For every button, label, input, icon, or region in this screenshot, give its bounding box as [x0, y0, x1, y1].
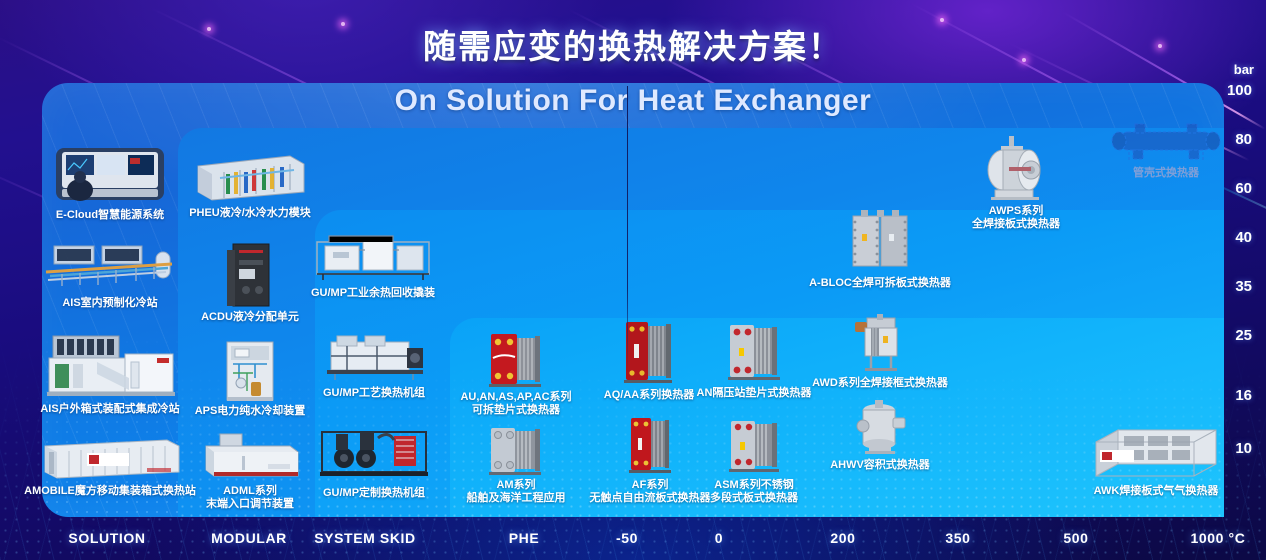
axis-label-200: 200: [830, 530, 855, 546]
pressure-tick-35: 35: [1235, 278, 1252, 295]
ahwv-icon: [851, 398, 909, 456]
product-e-cloud[interactable]: E-Cloud智慧能源系统: [36, 146, 184, 222]
product-caption: AU,AN,AS,AP,AC系列 可拆垫片式换热器: [452, 391, 580, 417]
axis-label-0: 0: [715, 530, 723, 546]
pressure-axis: bar 100 80 60 40 35 25 16 10: [1214, 0, 1266, 560]
center-divider: [627, 86, 628, 376]
container-icon: [35, 434, 185, 482]
phe-steel-icon: [485, 424, 547, 476]
product-caption: PHEU液冷/水冷水力模块: [184, 207, 316, 220]
phe-red-tall-icon: [620, 320, 678, 386]
phe-red-tall-icon: [625, 416, 675, 476]
product-caption: AWK焊接板式气气换热器: [1076, 485, 1236, 498]
pressure-tick-25: 25: [1235, 327, 1252, 344]
product-caption: AIS户外箱式装配式集成冷站: [26, 403, 194, 416]
axis-label-solution: SOLUTION: [68, 530, 145, 546]
axis-label-modular: MODULAR: [211, 530, 287, 546]
regulator-box-icon: [198, 432, 302, 482]
pressure-tick-10: 10: [1235, 440, 1252, 457]
phe-red-icon: [485, 330, 547, 388]
product-awk[interactable]: AWK焊接板式气气换热器: [1076, 424, 1236, 498]
product-caption: A-BLOC全焊可拆板式换热器: [806, 277, 954, 290]
process-unit-icon: [319, 330, 429, 384]
page-subtitle: On Solution For Heat Exchanger: [0, 84, 1266, 118]
product-caption: AWPS系列 全焊接板式换热器: [950, 205, 1082, 231]
axis-label-phe: PHE: [509, 530, 540, 546]
product-am-series[interactable]: AM系列 船舶及海洋工程应用: [452, 424, 580, 505]
product-caption: GU/MP定制换热机组: [308, 487, 440, 500]
pressure-tick-16: 16: [1235, 387, 1252, 404]
product-caption: GU/MP工艺换热机组: [310, 387, 438, 400]
product-gump-waste-heat[interactable]: GU/MP工业余热回收撬装: [303, 232, 443, 300]
product-caption: AM系列 船舶及海洋工程应用: [452, 479, 580, 505]
product-ais-outdoor[interactable]: AIS户外箱式装配式集成冷站: [26, 328, 194, 416]
product-acdu[interactable]: ACDU液冷分配单元: [200, 242, 300, 324]
product-caption: ACDU液冷分配单元: [200, 311, 300, 324]
cabinet-icon: [223, 242, 277, 308]
pressure-tick-80: 80: [1235, 131, 1252, 148]
product-caption: AHWV容积式换热器: [814, 459, 946, 472]
product-caption: E-Cloud智慧能源系统: [36, 209, 184, 222]
product-adml[interactable]: ADML系列 末端入口调节装置: [192, 432, 308, 511]
phe-steel-icon: [725, 418, 783, 476]
product-caption: AN隔压站垫片式换热器: [684, 387, 824, 400]
axis-label-minus-50: -50: [616, 530, 638, 546]
product-a-bloc[interactable]: A-BLOC全焊可拆板式换热器: [806, 208, 954, 290]
product-awps[interactable]: AWPS系列 全焊接板式换热器: [950, 134, 1082, 231]
awd-icon: [849, 312, 911, 374]
indoor-plant-icon: [40, 238, 180, 294]
product-pheu[interactable]: PHEU液冷/水冷水力模块: [184, 148, 316, 220]
page-title: 随需应变的换热解决方案！: [0, 20, 1266, 68]
phe-steel-icon: [724, 322, 784, 384]
product-caption: GU/MP工业余热回收撬装: [303, 287, 443, 300]
product-caption: APS电力纯水冷却装置: [186, 405, 314, 418]
pressure-tick-40: 40: [1235, 229, 1252, 246]
infographic-canvas: 随需应变的换热解决方案！ On Solution For Heat Exchan…: [0, 0, 1266, 560]
hydraulic-module-icon: [190, 148, 310, 204]
product-caption: ADML系列 末端入口调节装置: [192, 485, 308, 511]
product-gump-process[interactable]: GU/MP工艺换热机组: [310, 330, 438, 400]
bloc-icon: [847, 208, 913, 274]
product-amobile[interactable]: AMOBILE魔方移动集装箱式换热站: [22, 434, 198, 498]
control-room-icon: [56, 146, 164, 206]
product-ais-indoor[interactable]: AIS室内预制化冷站: [30, 238, 190, 310]
pressure-tick-100: 100: [1227, 82, 1252, 99]
awps-icon: [981, 134, 1051, 202]
product-ahwv[interactable]: AHWV容积式换热器: [814, 398, 946, 472]
product-gump-custom[interactable]: GU/MP定制换热机组: [308, 422, 440, 500]
product-asm-series[interactable]: ASM系列不锈钢 多段式板式换热器: [684, 418, 824, 505]
axis-label-350: 350: [945, 530, 970, 546]
product-caption: AWD系列全焊接框式换热器: [806, 377, 954, 390]
product-awd[interactable]: AWD系列全焊接框式换热器: [806, 312, 954, 390]
custom-unit-icon: [316, 422, 432, 484]
temperature-axis: SOLUTION MODULAR SYSTEM SKID PHE -50 0 2…: [0, 514, 1266, 560]
waste-heat-skid-icon: [309, 232, 437, 284]
axis-label-500: 500: [1063, 530, 1088, 546]
product-an-isolation[interactable]: AN隔压站垫片式换热器: [684, 322, 824, 400]
awk-icon: [1090, 424, 1222, 482]
pure-water-unit-icon: [221, 340, 279, 402]
product-caption: AIS室内预制化冷站: [30, 297, 190, 310]
product-aps[interactable]: APS电力纯水冷却装置: [186, 340, 314, 418]
product-au-an-as-ap-ac[interactable]: AU,AN,AS,AP,AC系列 可拆垫片式换热器: [452, 330, 580, 417]
shell-and-tube-ghost-icon: [1107, 122, 1225, 164]
outdoor-skid-icon: [37, 328, 183, 400]
product-caption: ASM系列不锈钢 多段式板式换热器: [684, 479, 824, 505]
product-caption: AMOBILE魔方移动集装箱式换热站: [22, 485, 198, 498]
axis-label-system-skid: SYSTEM SKID: [314, 530, 416, 546]
axis-label-1000: 1000 °C: [1191, 530, 1246, 546]
pressure-tick-60: 60: [1235, 180, 1252, 197]
